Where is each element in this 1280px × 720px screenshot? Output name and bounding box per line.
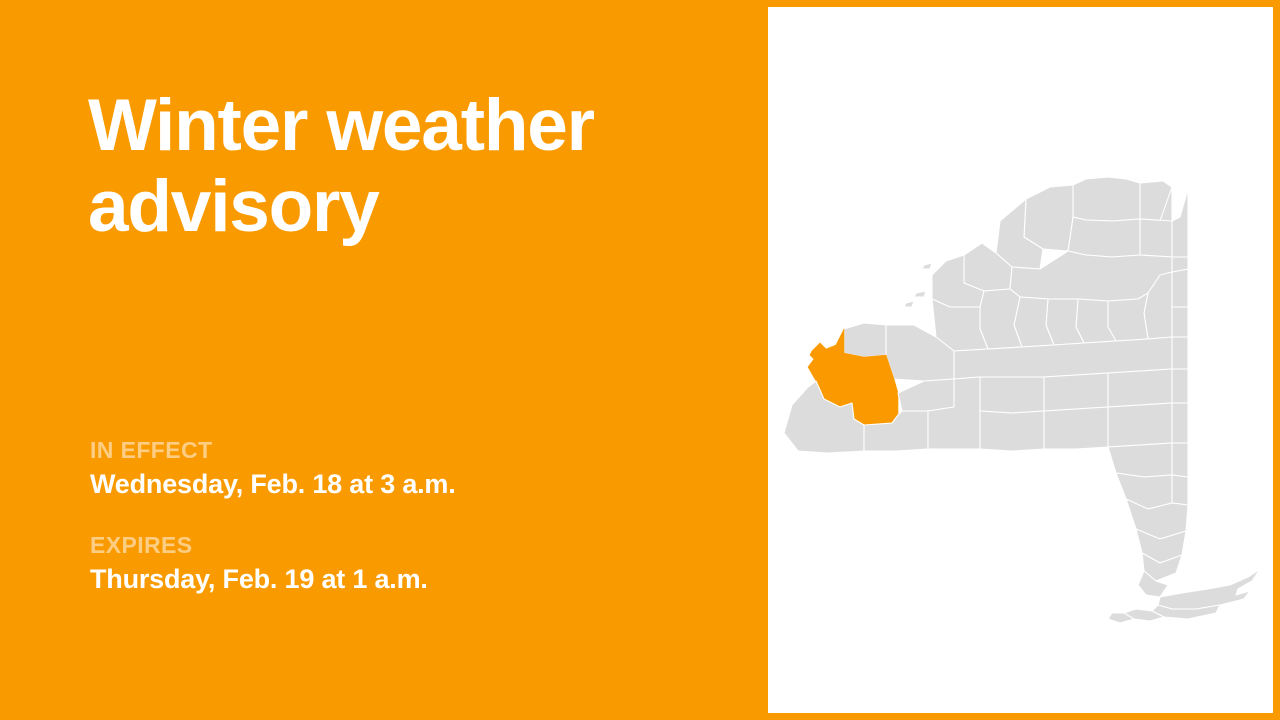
county-shape bbox=[1140, 219, 1172, 257]
county-shape bbox=[1172, 403, 1188, 443]
in-effect-group: IN EFFECT Wednesday, Feb. 18 at 3 a.m. bbox=[90, 437, 730, 500]
county-shape bbox=[1172, 369, 1188, 403]
county-shape bbox=[844, 323, 886, 357]
in-effect-label: IN EFFECT bbox=[90, 437, 730, 465]
county-shape bbox=[980, 377, 1044, 413]
county-shape bbox=[1172, 307, 1188, 337]
county-shape bbox=[1073, 177, 1140, 221]
weather-advisory-card: Winter weather advisory IN EFFECT Wednes… bbox=[0, 0, 1280, 720]
county-shape bbox=[1044, 373, 1108, 411]
map-panel bbox=[768, 7, 1273, 713]
county-shape bbox=[1108, 403, 1172, 447]
county-shape bbox=[1068, 217, 1140, 257]
county-shape bbox=[904, 301, 914, 307]
page-title: Winter weather advisory bbox=[88, 85, 708, 247]
county-shape bbox=[1108, 293, 1148, 341]
in-effect-value: Wednesday, Feb. 18 at 3 a.m. bbox=[90, 468, 730, 500]
county-shape bbox=[1172, 257, 1188, 272]
county-shape bbox=[1172, 269, 1188, 307]
county-shape bbox=[1044, 407, 1108, 449]
county-shape bbox=[1158, 569, 1260, 609]
county-shape bbox=[922, 263, 932, 269]
county-shape bbox=[914, 291, 926, 297]
county-shape bbox=[980, 411, 1044, 451]
advisory-timing-block: IN EFFECT Wednesday, Feb. 18 at 3 a.m. E… bbox=[90, 437, 730, 595]
county-shape bbox=[1108, 443, 1172, 477]
expires-label: EXPIRES bbox=[90, 532, 730, 560]
advisory-info-panel: Winter weather advisory IN EFFECT Wednes… bbox=[0, 0, 768, 720]
county-shape bbox=[1116, 473, 1172, 509]
county-shape bbox=[1108, 369, 1172, 407]
new-york-state-map bbox=[768, 7, 1273, 713]
county-shape bbox=[1172, 189, 1188, 257]
county-shape bbox=[980, 289, 1022, 349]
county-shape bbox=[1172, 443, 1188, 477]
expires-group: EXPIRES Thursday, Feb. 19 at 1 a.m. bbox=[90, 532, 730, 595]
county-shape bbox=[1172, 475, 1188, 505]
county-shapes bbox=[784, 177, 1260, 623]
county-shape bbox=[1172, 337, 1188, 369]
expires-value: Thursday, Feb. 19 at 1 a.m. bbox=[90, 563, 730, 595]
county-shape bbox=[898, 379, 954, 411]
